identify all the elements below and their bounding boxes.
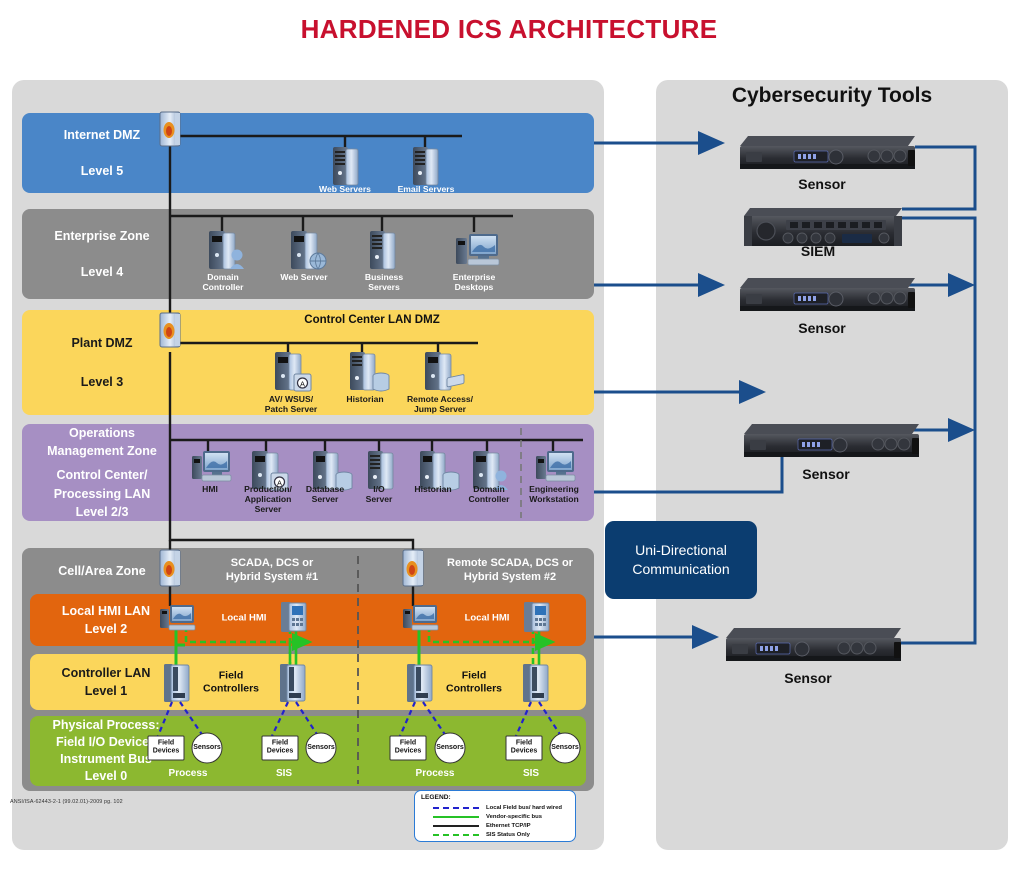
process-group-label-2: SIS [276, 768, 292, 780]
legend-label-ethernet: Ethernet TCP/IP [486, 823, 531, 829]
plant-dmz-header: Control Center LAN DMZ [304, 313, 439, 328]
node-web-server-enterprise: Web Server [267, 270, 341, 282]
field-devices-label-2: Field Devices [267, 740, 293, 757]
legend-label-vendor-bus: Vendor-specific bus [486, 814, 542, 820]
field-controllers-label-1: Field Controllers [203, 669, 259, 694]
node-label-av-wsus: AV/ WSUS/ Patch Server [265, 394, 318, 414]
node-historian-plant: Historian [328, 392, 402, 404]
node-label-database-server: Database Server [306, 484, 344, 504]
node-label-io-server: I/O Server [366, 484, 393, 504]
local-hmi-label-2: Local HMI [465, 612, 510, 623]
sensors-label-2: Sensors [307, 744, 335, 752]
zone-label-enterprise: Enterprise Zone Level 4 [22, 209, 182, 299]
zone-operations-management: Operations Management Zone Control Cente… [22, 424, 594, 521]
sensors-label-4: Sensors [551, 744, 579, 752]
local-hmi-label-1: Local HMI [222, 612, 267, 623]
node-web-servers: Web Servers [308, 182, 382, 194]
scada-header-2: Remote SCADA, DCS or Hybrid System #2 [447, 556, 573, 585]
node-label-historian-plant: Historian [346, 394, 383, 404]
zone-label-plant-dmz: Plant DMZ Level 3 [22, 310, 182, 415]
zone-label-internet-dmz: Internet DMZ Level 5 [22, 113, 182, 193]
scada-header-1: SCADA, DCS or Hybrid System #1 [226, 556, 318, 585]
node-domain-controller-ops: Domain Controller [452, 482, 526, 504]
node-av-wsus-patch-server: AV/ WSUS/ Patch Server [254, 392, 328, 414]
uni-box-line-2: Communication [632, 560, 729, 579]
legend-row-ethernet: Ethernet TCP/IP [421, 821, 570, 830]
node-label-enterprise-desktops: Enterprise Desktops [453, 272, 496, 292]
node-label-email-servers: Email Servers [398, 184, 455, 194]
node-label-historian-ops: Historian [414, 484, 451, 494]
sensors-label-3: Sensors [436, 744, 464, 752]
zone-label-hmi-lan: Local HMI LAN Level 2 [30, 594, 182, 646]
zone-label-cell-area: Cell/Area Zone [22, 548, 182, 594]
legend-label-sis: SIS Status Only [486, 832, 530, 838]
node-label-domain-controller-ops: Domain Controller [468, 484, 509, 504]
uni-box-line-1: Uni-Directional [632, 541, 729, 560]
node-email-servers: Email Servers [389, 182, 463, 194]
node-remote-access-jump-server: Remote Access/ Jump Server [403, 392, 477, 414]
node-label-jump-server: Remote Access/ Jump Server [407, 394, 473, 414]
zone-controller-lan: Controller LAN Level 1 [30, 654, 586, 710]
node-business-servers: Business Servers [347, 270, 421, 292]
node-label-business-servers: Business Servers [365, 272, 403, 292]
legend-swatch-vendor-bus [433, 816, 479, 818]
node-label-hmi: HMI [202, 484, 218, 494]
uni-directional-communication-box: Uni-Directional Communication [605, 521, 757, 599]
legend-title: LEGEND: [421, 794, 570, 801]
legend-swatch-sis [433, 834, 479, 836]
legend-row-sis: SIS Status Only [421, 830, 570, 839]
zone-label-operations: Operations Management Zone Control Cente… [22, 424, 182, 521]
process-group-label-3: Process [416, 768, 455, 780]
field-devices-label-1: Field Devices [153, 740, 179, 757]
process-group-label-4: SIS [523, 768, 539, 780]
legend-row-vendor-bus: Vendor-specific bus [421, 812, 570, 821]
legend-row-field-bus: Local Field bus/ hard wired [421, 803, 570, 812]
node-label-web-servers: Web Servers [319, 184, 371, 194]
zone-internet-dmz: Internet DMZ Level 5 [22, 113, 594, 193]
node-label-domain-controller: Domain Controller [202, 272, 243, 292]
legend: LEGEND: Local Field bus/ hard wired Vend… [414, 790, 576, 842]
node-engineering-workstation: Engineering Workstation [517, 482, 591, 504]
cybersecurity-tools-panel [656, 80, 1008, 850]
process-group-label-1: Process [169, 768, 208, 780]
node-enterprise-desktops: Enterprise Desktops [437, 270, 511, 292]
node-label-production-application: Production/ Application Server [244, 484, 292, 514]
legend-swatch-field-bus [433, 807, 479, 809]
cybersecurity-tools-title: Cybersecurity Tools [656, 84, 1008, 108]
field-devices-label-4: Field Devices [511, 740, 537, 757]
node-domain-controller-enterprise: Domain Controller [186, 270, 260, 292]
zone-label-controller-lan: Controller LAN Level 1 [30, 654, 182, 710]
sensors-label-1: Sensors [193, 744, 221, 752]
page-title: HARDENED ICS ARCHITECTURE [0, 14, 1018, 45]
node-label-engineering-workstation: Engineering Workstation [529, 484, 579, 504]
legend-label-field-bus: Local Field bus/ hard wired [486, 805, 562, 811]
field-controllers-label-2: Field Controllers [446, 669, 502, 694]
source-citation: ANSI/ISA-62443-2-1 (99.02.01)-2009 pg. 1… [10, 799, 123, 805]
node-label-web-server: Web Server [280, 272, 327, 282]
legend-swatch-ethernet [433, 825, 479, 827]
field-devices-label-3: Field Devices [395, 740, 421, 757]
